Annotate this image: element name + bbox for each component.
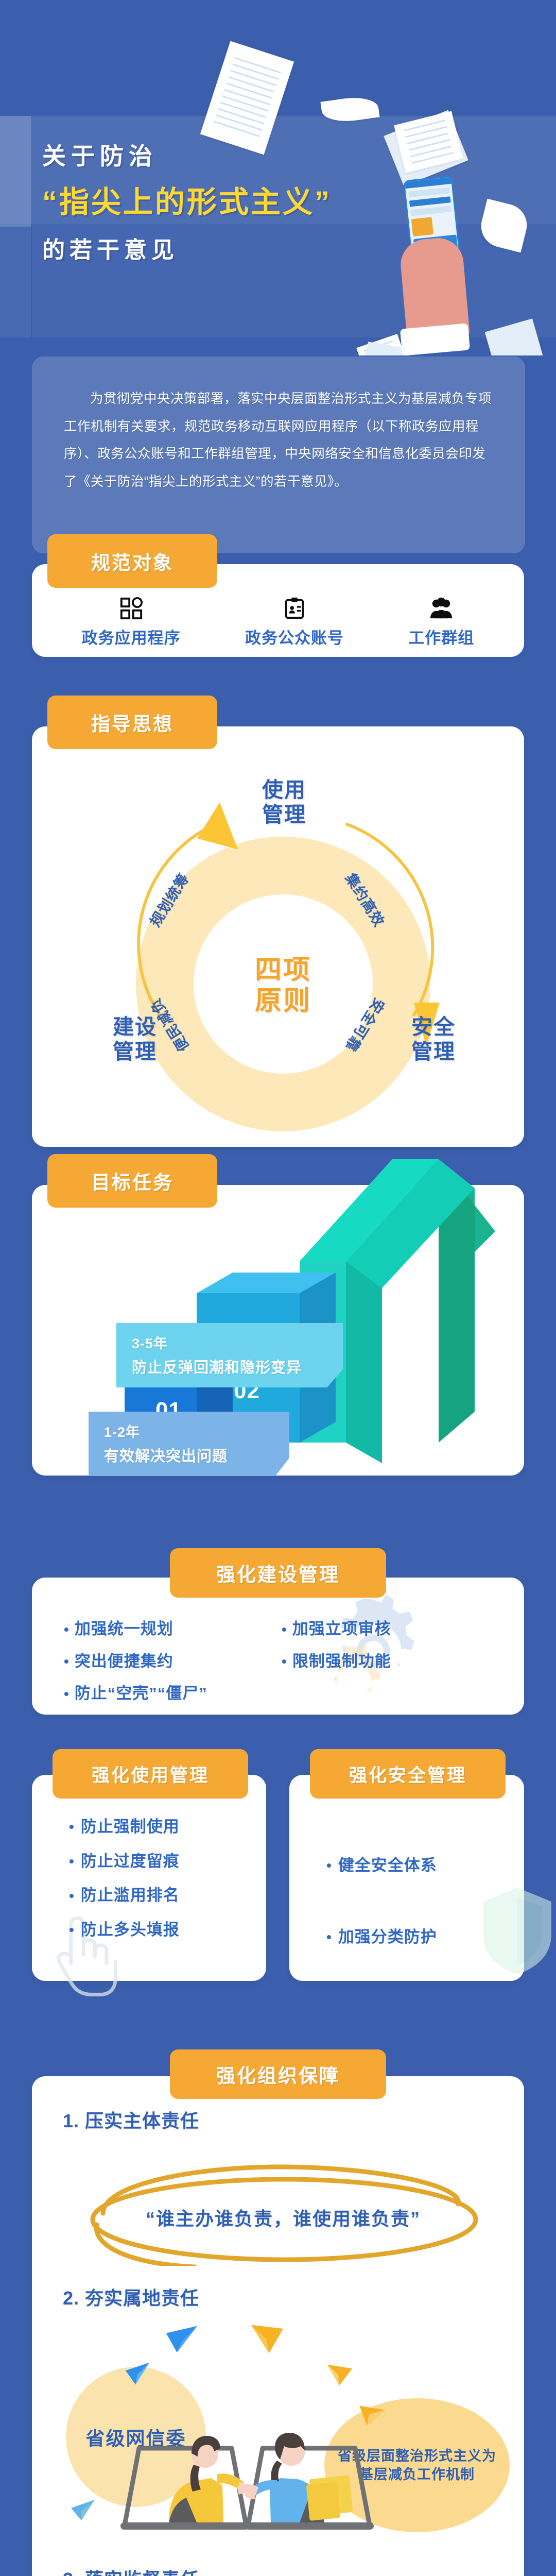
hero-band-overlay-left-bottom <box>0 224 31 337</box>
org-heading-2: 2. 夯实属地责任 <box>63 2283 199 2310</box>
handshake-illustration <box>103 2416 391 2545</box>
use-item: 防止滥用排名 <box>69 1878 266 1913</box>
paper-plane-icon <box>164 2324 200 2360</box>
sleeve-shape <box>400 323 470 355</box>
goal-chip-01: 1-2年 有效解决突出问题 <box>89 1412 289 1476</box>
object-item-account[interactable]: 政务公众账号 <box>245 597 344 648</box>
use-item: 防止强制使用 <box>69 1810 266 1844</box>
build-management-list: 加强统一规划 加强立项审核 突出便捷集约 限制强制功能 防止“空壳”“僵尸” <box>32 1592 524 1716</box>
security-management-list: 健全安全体系 加强分类防护 <box>289 1814 524 1954</box>
paper-plane-icon <box>124 2360 153 2389</box>
core-line-1: 四项 <box>232 955 335 986</box>
hand-holding-phone-illustration <box>378 178 512 355</box>
outer-label-use-line1: 使用 <box>243 778 325 803</box>
build-item: 加强统一规划 <box>64 1614 282 1645</box>
goal-chip-02: 3-5年 防止反弹回潮和隐形变异 <box>116 1323 343 1387</box>
phone-status-bar <box>405 177 451 189</box>
outer-label-use-line2: 管理 <box>243 803 325 827</box>
use-item: 防止多头填报 <box>69 1913 266 1947</box>
paper-plane-icon <box>324 2360 354 2389</box>
outer-label-build-line2: 管理 <box>94 1040 176 1064</box>
outer-label-security-line1: 安全 <box>392 1015 475 1040</box>
four-principles-diagram: 使用 管理 建设 管理 安全 管理 规划统筹 集约高效 便民减负 安全可靠 四项… <box>32 726 524 1147</box>
build-item: 突出便捷集约 <box>64 1647 282 1677</box>
title-line-3: 的若干意见 <box>42 239 332 262</box>
intro-paragraph: 为贯彻党中央决策部署，落实中央层面整治形式主义为基层减负专项工作机制有关要求，规… <box>64 385 493 496</box>
phone-avatar <box>411 217 433 236</box>
clipboard-id-icon <box>283 597 306 620</box>
responsibility-quote-text: “谁主办谁负责，谁使用谁负责” <box>72 2204 494 2231</box>
use-management-list: 防止强制使用 防止过度留痕 防止滥用排名 防止多头填报 <box>32 1775 266 1947</box>
security-item: 加强分类防护 <box>326 1920 524 1955</box>
build-item: 防止“空壳”“僵尸” <box>64 1679 282 1709</box>
page-title: 关于防治 “指尖上的形式主义” 的若干意见 <box>42 144 332 262</box>
use-management-badge: 强化使用管理 <box>53 1749 248 1799</box>
goal-text-02: 防止反弹回潮和隐形变异 <box>132 1355 329 1377</box>
org-heading-3: 3. 落实监督责任 <box>63 2565 199 2576</box>
objects-list: 政务应用程序 政务公众账号 工作群组 <box>32 587 524 657</box>
security-management-badge: 强化安全管理 <box>310 1749 506 1799</box>
intro-panel: 为贯彻党中央决策部署，落实中央层面整治形式主义为基层减负专项工作机制有关要求，规… <box>32 357 525 553</box>
organization-badge: 强化组织保障 <box>170 2049 386 2099</box>
goals-badge: 目标任务 <box>47 1154 217 1208</box>
object-item-group[interactable]: 工作群组 <box>408 597 474 648</box>
objects-badge: 规范对象 <box>47 534 217 588</box>
build-management-badge: 强化建设管理 <box>170 1548 386 1598</box>
hero-band-overlay-left-top <box>0 116 31 227</box>
use-item: 防止过度留痕 <box>69 1844 266 1879</box>
app-grid-icon <box>119 597 143 620</box>
paper-plane-icon <box>355 2398 387 2430</box>
phone-list-row <box>410 206 452 216</box>
outer-label-use: 使用 管理 <box>243 778 325 827</box>
people-group-icon <box>429 597 453 620</box>
object-item-label: 政务应用程序 <box>82 625 181 648</box>
build-item: 限制强制功能 <box>282 1647 499 1677</box>
paper-plane-icon <box>247 2321 286 2360</box>
handshake-graphic <box>103 2416 391 2545</box>
responsibility-quote-block: “谁主办谁负责，谁使用谁负责” <box>72 2147 494 2266</box>
goal-years-02: 3-5年 <box>132 1332 329 1352</box>
outer-label-security: 安全 管理 <box>392 1015 475 1064</box>
org-heading-1: 1. 压实主体责任 <box>63 2106 199 2133</box>
object-item-app[interactable]: 政务应用程序 <box>82 597 181 648</box>
object-item-label: 政务公众账号 <box>245 625 344 648</box>
title-line-1: 关于防治 <box>42 144 332 168</box>
build-item: 加强立项审核 <box>282 1614 499 1645</box>
hero-banner: 关于防治 “指尖上的形式主义” 的若干意见 <box>0 0 556 355</box>
goal-years-01: 1-2年 <box>104 1421 276 1441</box>
paper-plane-icon <box>68 2494 99 2524</box>
phone-list-row <box>408 187 450 197</box>
object-item-label: 工作群组 <box>408 625 474 648</box>
goal-text-01: 有效解决突出问题 <box>104 1444 276 1466</box>
security-item: 健全安全体系 <box>326 1849 524 1883</box>
ideology-badge: 指导思想 <box>47 696 217 749</box>
outer-label-security-line2: 管理 <box>392 1040 475 1064</box>
core-line-2: 原则 <box>232 986 335 1017</box>
title-line-2: “指尖上的形式主义” <box>42 188 332 217</box>
four-principles-core-label: 四项 原则 <box>232 955 335 1017</box>
phone-list-row <box>409 196 451 207</box>
